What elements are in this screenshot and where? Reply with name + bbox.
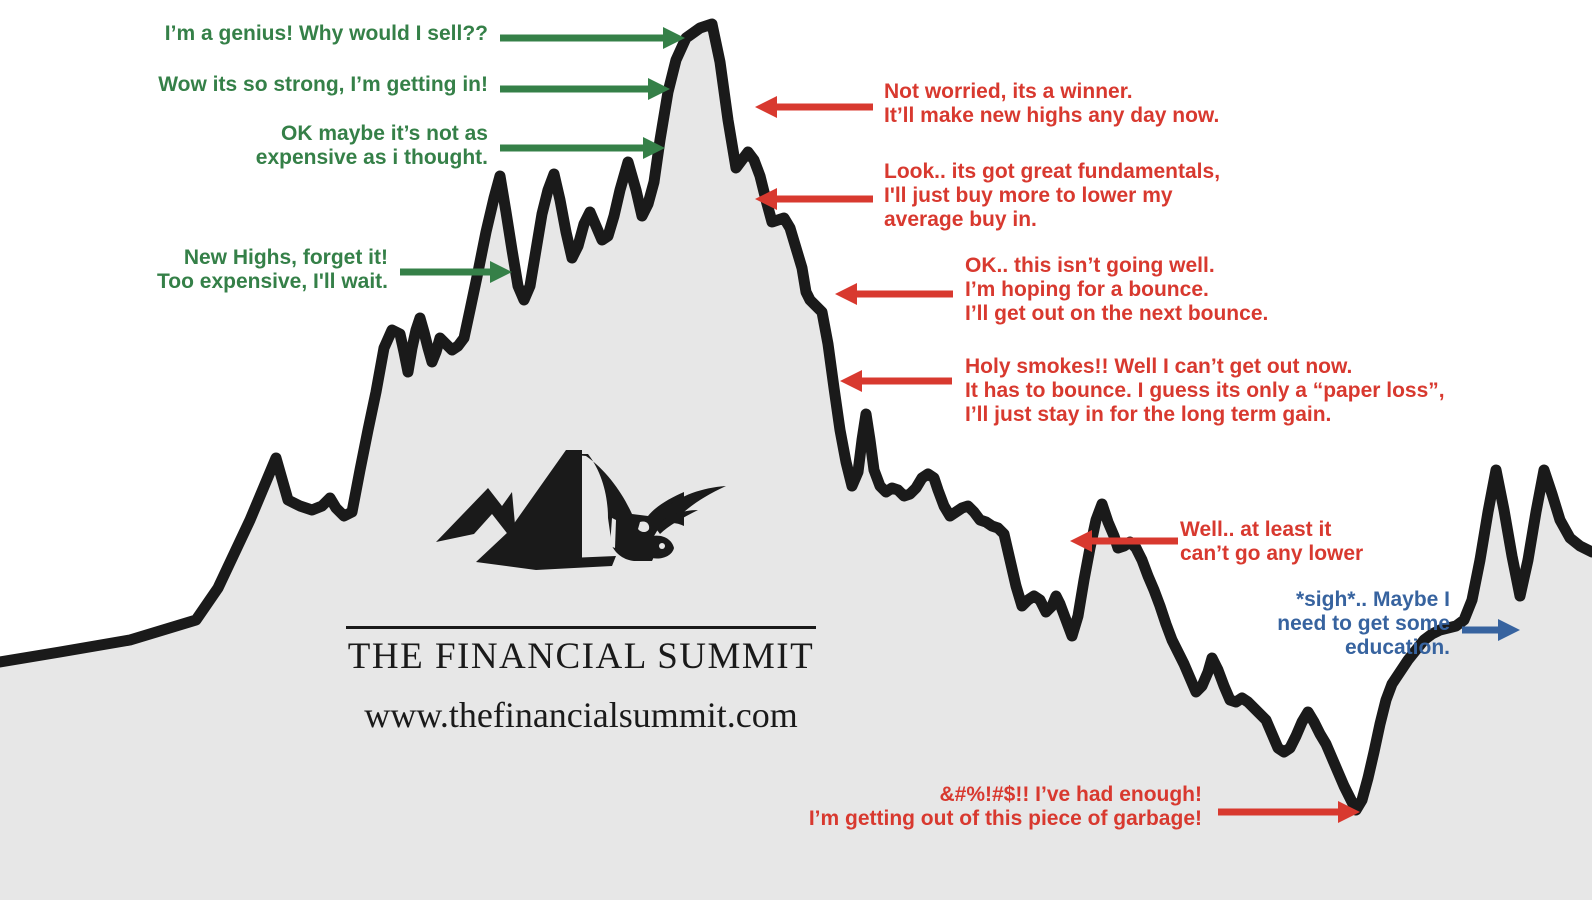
annotation-line: Not worried, its a winner. [884, 80, 1284, 104]
annotation-text-education: *sigh*.. Maybe Ineed to get someeducatio… [1228, 588, 1450, 660]
annotation-line: I’ll just stay in for the long term gain… [965, 403, 1495, 427]
arrow-glyph [1462, 619, 1520, 641]
annotation-line: I’m hoping for a bounce. [965, 278, 1325, 302]
annotation-text-fundamentals: Look.. its got great fundamentals,I'll j… [884, 160, 1284, 232]
annotation-arrow-new-highs-right [400, 259, 512, 285]
annotation-line: I'll just buy more to lower my [884, 184, 1284, 208]
annotation-arrow-genius-right [500, 25, 685, 51]
annotation-arrow-not-worried-left [755, 94, 873, 120]
annotation-line: education. [1228, 636, 1450, 660]
arrow-glyph [755, 96, 873, 118]
annotation-arrow-cant-go-lower-left [1070, 528, 1178, 554]
annotation-line: Well.. at least it [1180, 518, 1430, 542]
brand-logo: THE FINANCIAL SUMMIT www.thefinancialsum… [336, 430, 826, 736]
annotation-text-not-going-well: OK.. this isn’t going well.I’m hoping fo… [965, 254, 1325, 326]
annotation-text-had-enough: &#%!#$!! I’ve had enough!I’m getting out… [742, 783, 1202, 831]
brand-name: THE FINANCIAL SUMMIT [336, 635, 826, 678]
annotation-line: &#%!#$!! I’ve had enough! [742, 783, 1202, 807]
annotation-text-cant-go-lower: Well.. at least itcan’t go any lower [1180, 518, 1430, 566]
annotation-arrow-not-going-well-left [835, 281, 953, 307]
arrow-glyph [755, 188, 873, 210]
annotation-text-holy-smokes: Holy smokes!! Well I can’t get out now.I… [965, 355, 1495, 427]
annotation-line: Look.. its got great fundamentals, [884, 160, 1284, 184]
annotation-line: It’ll make new highs any day now. [884, 104, 1284, 128]
annotation-arrow-so-strong-right [500, 76, 670, 102]
arrow-glyph [1070, 530, 1178, 552]
annotation-arrow-holy-smokes-left [840, 368, 952, 394]
annotation-line: expensive as i thought. [138, 146, 488, 170]
annotation-line: OK.. this isn’t going well. [965, 254, 1325, 278]
annotation-arrow-fundamentals-left [755, 186, 873, 212]
annotation-arrow-had-enough-right [1218, 799, 1360, 825]
bull-and-mountain-icon [416, 430, 746, 620]
annotation-line: New Highs, forget it! [100, 246, 388, 270]
annotation-text-not-as-expensive: OK maybe it’s not asexpensive as i thoug… [138, 122, 488, 170]
annotation-line: Too expensive, I'll wait. [100, 270, 388, 294]
arrow-glyph [500, 78, 670, 100]
annotation-text-genius: I’m a genius! Why would I sell?? [118, 22, 488, 46]
annotation-line: It has to bounce. I guess its only a “pa… [965, 379, 1495, 403]
arrow-glyph [840, 370, 952, 392]
annotation-arrow-not-as-expensive-right [500, 135, 665, 161]
annotation-text-so-strong: Wow its so strong, I’m getting in! [100, 73, 488, 97]
annotation-line: *sigh*.. Maybe I [1228, 588, 1450, 612]
brand-url: www.thefinancialsummit.com [336, 694, 826, 736]
logo-divider [346, 626, 816, 629]
arrow-glyph [835, 283, 953, 305]
arrow-glyph [400, 261, 512, 283]
arrow-glyph [500, 137, 665, 159]
arrow-glyph [1218, 801, 1360, 823]
annotation-text-new-highs: New Highs, forget it!Too expensive, I'll… [100, 246, 388, 294]
arrow-glyph [500, 27, 685, 49]
annotation-line: OK maybe it’s not as [138, 122, 488, 146]
annotation-arrow-education-right [1462, 617, 1520, 643]
annotation-line: I’ll get out on the next bounce. [965, 302, 1325, 326]
annotation-line: I’m a genius! Why would I sell?? [118, 22, 488, 46]
annotation-line: Holy smokes!! Well I can’t get out now. [965, 355, 1495, 379]
annotation-line: I’m getting out of this piece of garbage… [742, 807, 1202, 831]
annotation-line: need to get some [1228, 612, 1450, 636]
annotation-line: can’t go any lower [1180, 542, 1430, 566]
annotation-text-not-worried: Not worried, its a winner.It’ll make new… [884, 80, 1284, 128]
annotation-line: Wow its so strong, I’m getting in! [100, 73, 488, 97]
infographic-canvas: THE FINANCIAL SUMMIT www.thefinancialsum… [0, 0, 1592, 900]
annotation-line: average buy in. [884, 208, 1284, 232]
